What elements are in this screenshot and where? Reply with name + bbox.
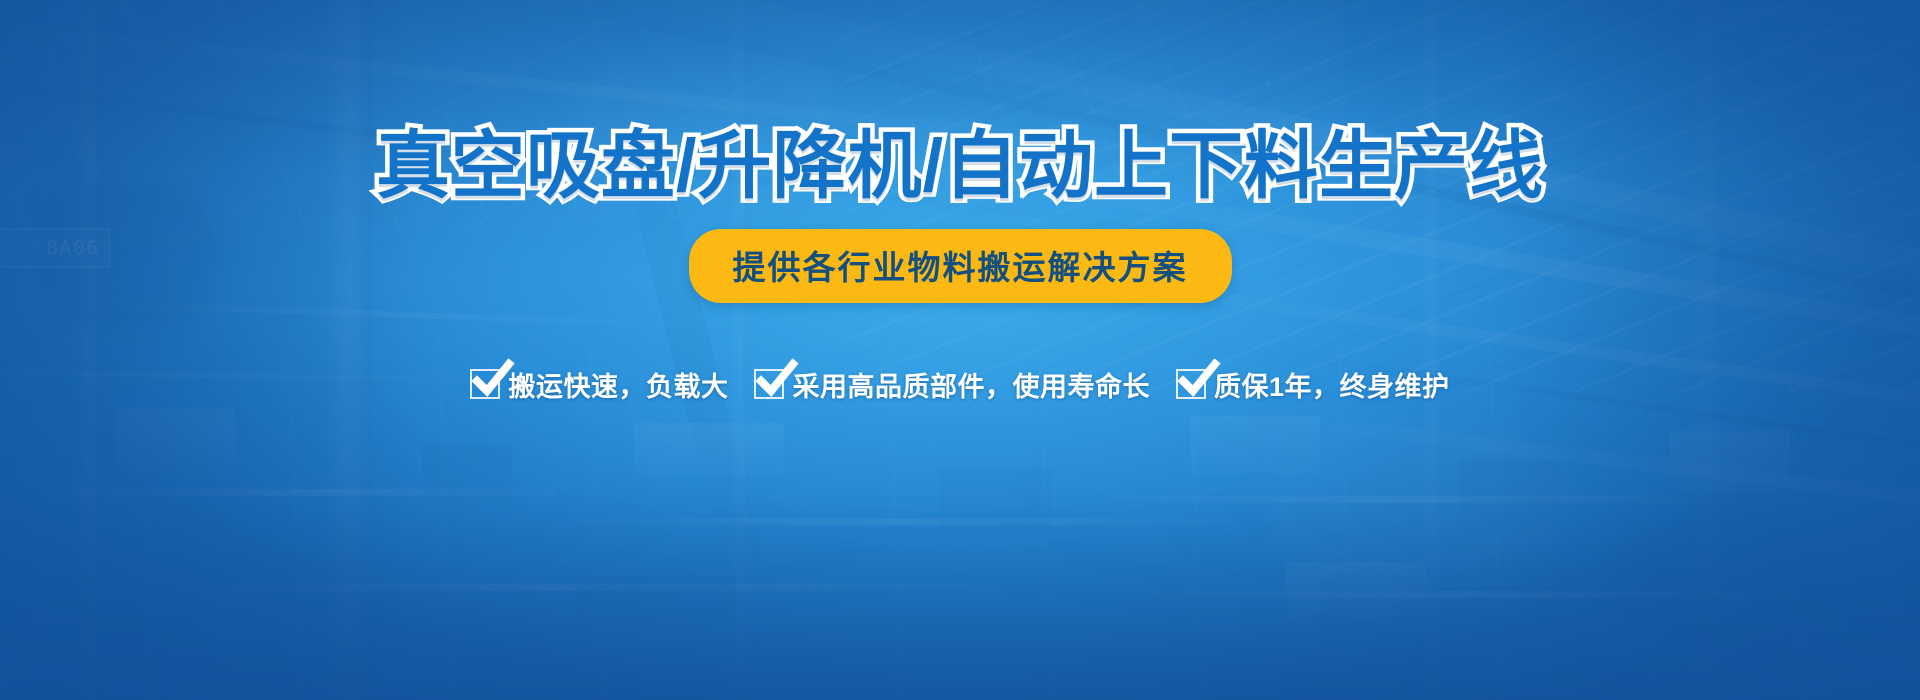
feature-label: 质保1年，终身维护 [1214, 365, 1450, 404]
feature-item: 采用高品质部件，使用寿命长 [754, 365, 1150, 404]
feature-label: 搬运快速，负载大 [508, 365, 728, 404]
check-box-icon [470, 369, 500, 399]
feature-label: 采用高品质部件，使用寿命长 [792, 365, 1150, 404]
check-box-icon [754, 369, 784, 399]
feature-list: 搬运快速，负载大 采用高品质部件，使用寿命长 质保1年，终身维护 [470, 365, 1449, 404]
banner-content: 真空吸盘/升降机/自动上下料生产线 提供各行业物料搬运解决方案 搬运快速，负载大… [0, 0, 1920, 700]
banner-headline: 真空吸盘/升降机/自动上下料生产线 [376, 128, 1544, 205]
promo-banner: BA06 真空吸盘/升降机/自动上下料生产线 提供各行业物料搬运解决方案 搬运快… [0, 0, 1920, 700]
banner-subtitle-pill: 提供各行业物料搬运解决方案 [689, 229, 1232, 303]
feature-item: 搬运快速，负载大 [470, 365, 728, 404]
feature-item: 质保1年，终身维护 [1176, 365, 1450, 404]
check-box-icon [1176, 369, 1206, 399]
